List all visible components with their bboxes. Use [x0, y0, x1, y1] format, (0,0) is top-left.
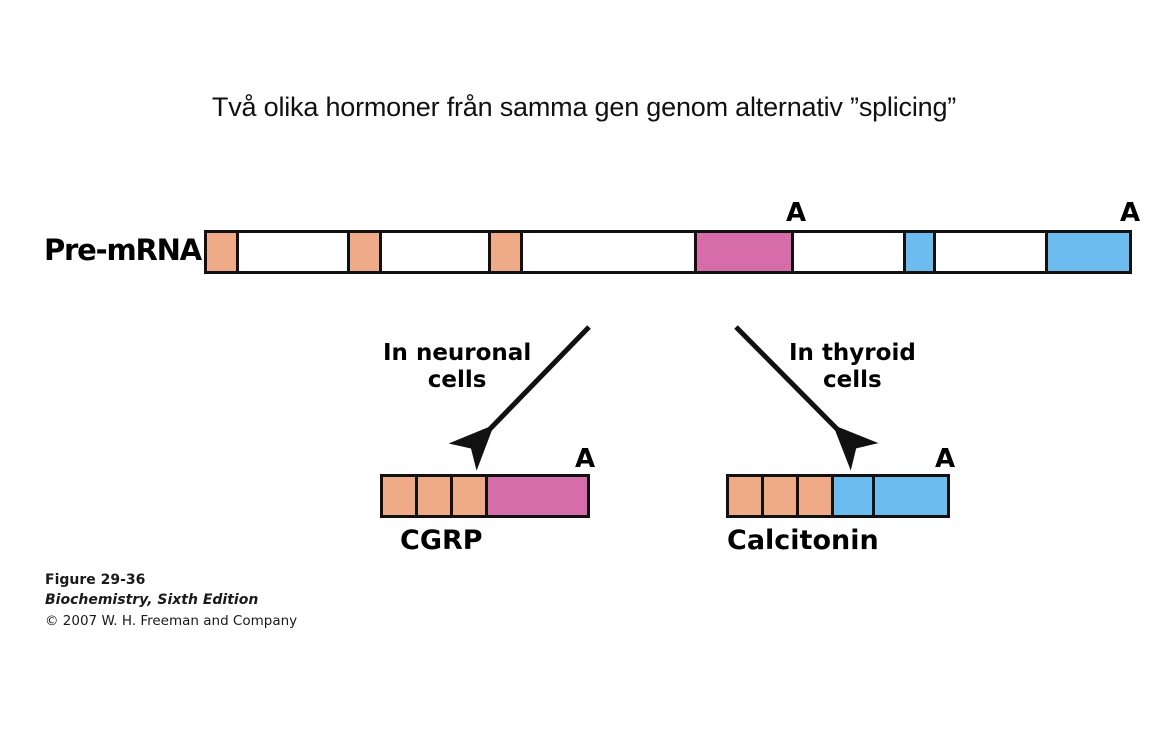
calcitonin-segment-exon-4	[875, 477, 947, 515]
calcitonin-segment-exon-0	[729, 477, 764, 515]
calcitonin-mrna-bar	[726, 474, 950, 518]
polya-site-pre-mrna-1: A	[1120, 200, 1140, 226]
polya-site-cgrp: A	[575, 446, 595, 472]
credit-book-title: Biochemistry, Sixth Edition	[45, 590, 297, 610]
pathway-caption-thyroid-line1: In thyroid	[789, 340, 916, 367]
pathway-caption-neuronal: In neuronal cells	[383, 340, 531, 394]
calcitonin-segment-exon-1	[764, 477, 799, 515]
figure-credit: Figure 29-36 Biochemistry, Sixth Edition…	[45, 570, 297, 631]
calcitonin-segment-exon-3	[834, 477, 875, 515]
calcitonin-product-label: Calcitonin	[727, 525, 879, 556]
credit-figure-number: Figure 29-36	[45, 570, 297, 590]
calcitonin-segment-exon-2	[799, 477, 834, 515]
cgrp-mrna-bar	[380, 474, 590, 518]
cgrp-segment-exon-1	[418, 477, 453, 515]
credit-copyright: © 2007 W. H. Freeman and Company	[45, 611, 297, 631]
cgrp-product-label: CGRP	[400, 525, 483, 556]
cgrp-segment-exon-3	[488, 477, 587, 515]
pathway-caption-neuronal-line2: cells	[383, 367, 531, 394]
pathway-caption-thyroid: In thyroid cells	[789, 340, 916, 394]
polya-site-pre-mrna-0: A	[786, 200, 806, 226]
pathway-caption-neuronal-line1: In neuronal	[383, 340, 531, 367]
pathway-caption-thyroid-line2: cells	[789, 367, 916, 394]
cgrp-segment-exon-2	[453, 477, 488, 515]
polya-site-calcitonin: A	[935, 446, 955, 472]
cgrp-segment-exon-0	[383, 477, 418, 515]
